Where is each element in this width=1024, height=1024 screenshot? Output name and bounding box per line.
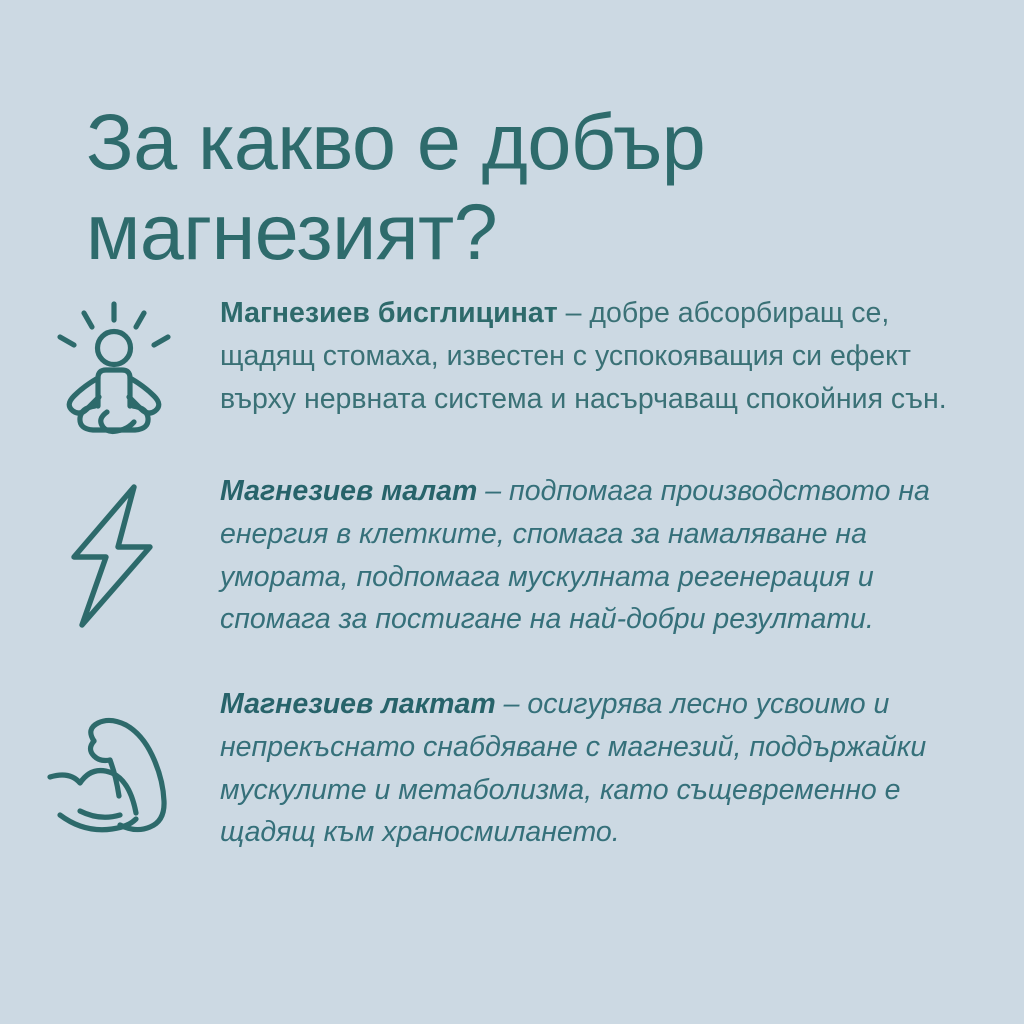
icon-slot <box>0 292 220 426</box>
item-label: Магнезиев лактат <box>220 688 496 720</box>
item-label: Магнезиев малат <box>220 475 477 507</box>
poster-canvas: За какво е добър магнезият? <box>0 0 1024 1024</box>
list-item: Магнезиев лактат – осигурява лесно усвои… <box>0 683 1024 854</box>
text-slot: Магнезиев малат – подпомага производство… <box>220 470 1024 641</box>
text-slot: Магнезиев бисглицинат – добре абсорбиращ… <box>220 292 1024 420</box>
item-dash: – <box>477 475 509 507</box>
text-slot: Магнезиев лактат – осигурява лесно усвои… <box>220 683 1024 854</box>
list-item: Магнезиев малат – подпомага производство… <box>0 470 1024 641</box>
list-item: Магнезиев бисглицинат – добре абсорбиращ… <box>0 292 1024 426</box>
icon-slot <box>0 481 220 631</box>
item-paragraph: Магнезиев малат – подпомага производство… <box>220 470 968 641</box>
flexed-bicep-icon <box>44 711 184 837</box>
item-label: Магнезиев бисглицинат <box>220 297 558 329</box>
page-title: За какво е добър магнезият? <box>86 97 966 277</box>
item-paragraph: Магнезиев бисглицинат – добре абсорбиращ… <box>220 292 962 420</box>
icon-slot <box>0 701 220 837</box>
meditation-lotus-icon <box>51 300 177 426</box>
item-dash: – <box>496 688 528 720</box>
item-dash: – <box>558 297 590 329</box>
lightning-bolt-icon <box>62 481 166 631</box>
item-paragraph: Магнезиев лактат – осигурява лесно усвои… <box>220 683 984 854</box>
benefit-list: Магнезиев бисглицинат – добре абсорбиращ… <box>0 292 1024 854</box>
